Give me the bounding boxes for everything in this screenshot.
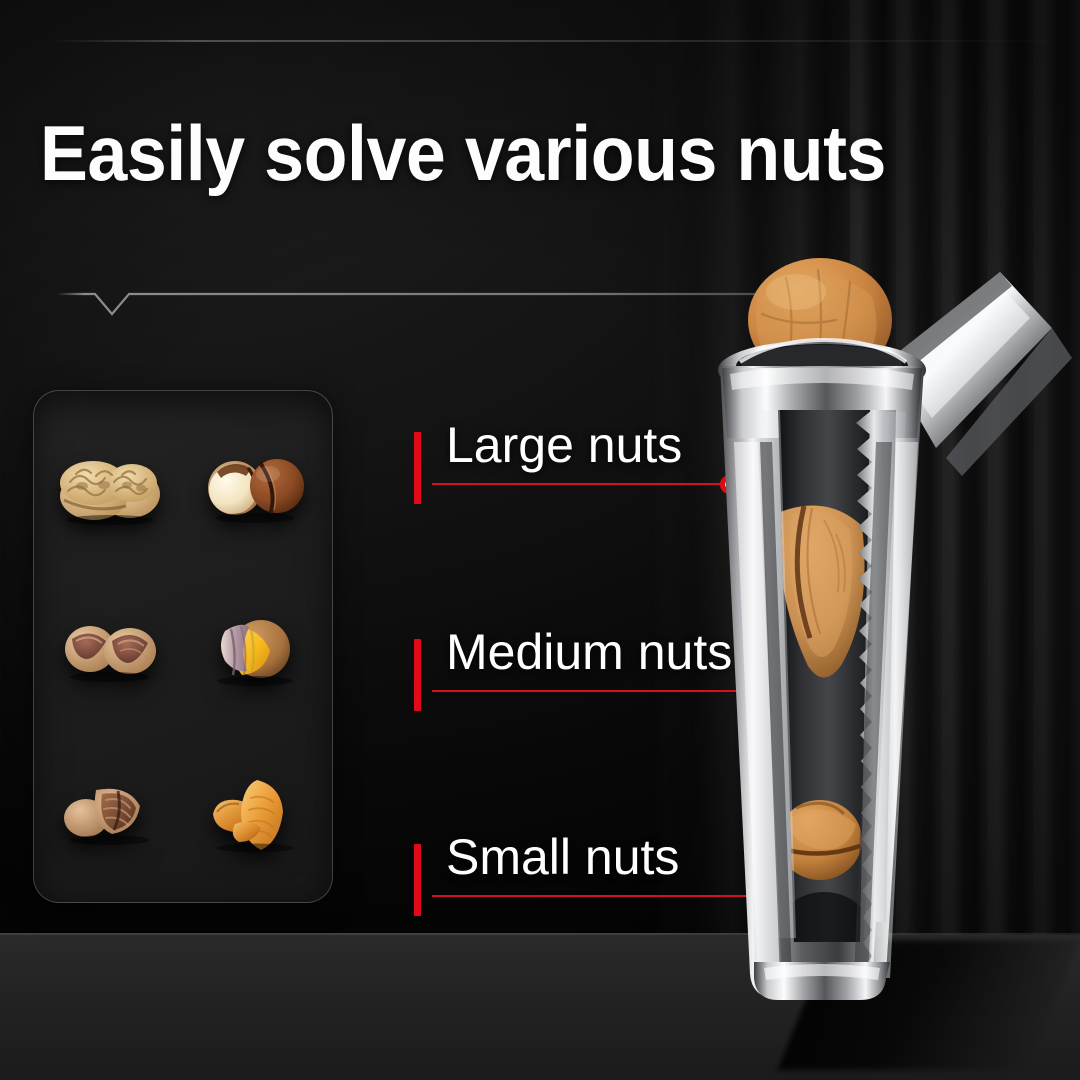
headline-text: Easily solve various nuts	[40, 106, 923, 200]
callout-accent-bar-small	[414, 844, 421, 916]
product-image-canvas: Easily solve various nuts	[0, 0, 1080, 1080]
callout-label-large: Large nuts	[446, 416, 682, 474]
walnut-image	[52, 438, 172, 534]
macadamia-image	[195, 438, 315, 534]
nut-variety-gallery	[33, 390, 333, 903]
callout-label-medium: Medium nuts	[446, 623, 732, 681]
callout-accent-bar-large	[414, 432, 421, 504]
cone-body	[720, 366, 924, 1000]
gallery-cell-pecan	[40, 727, 183, 888]
divider-rule	[57, 288, 757, 320]
gallery-cell-almond	[183, 727, 326, 888]
chestnut-image	[195, 599, 315, 695]
gallery-cell-macadamia	[183, 405, 326, 566]
callout-leader-line-large	[432, 483, 730, 485]
pecan-image	[52, 760, 172, 856]
callout-accent-bar-medium	[414, 639, 421, 711]
cone-nutcracker-tool	[700, 262, 1080, 1022]
almond-image	[195, 760, 315, 856]
gallery-cell-walnut	[40, 405, 183, 566]
gallery-cell-chestnut	[183, 566, 326, 727]
callout-label-small: Small nuts	[446, 828, 679, 886]
gallery-cell-hazelnut	[40, 566, 183, 727]
hazelnut-image	[52, 599, 172, 695]
